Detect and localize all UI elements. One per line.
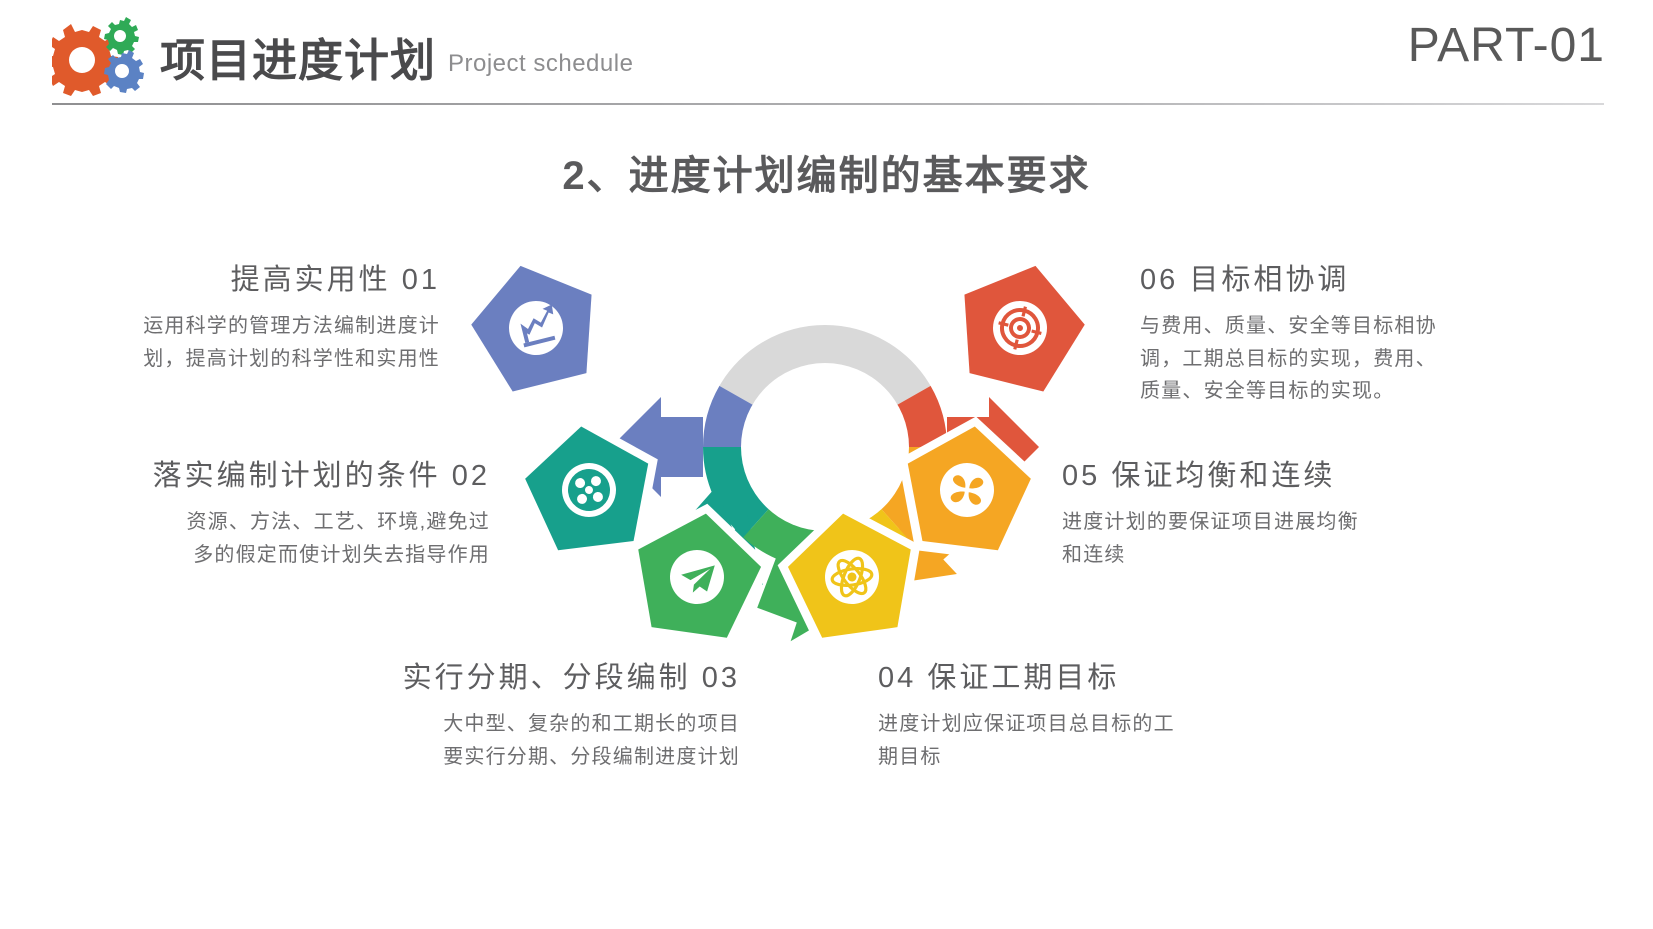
item-block-03: 实行分期、分段编制 03 大中型、复杂的和工期长的项目要实行分期、分段编制进度计… xyxy=(330,660,740,773)
header-title: 项目进度计划 xyxy=(160,24,436,89)
gears-icon xyxy=(52,16,148,96)
item-block-01: 提高实用性 01 运用科学的管理方法编制进度计划，提高计划的科学性和实用性 xyxy=(40,262,440,375)
item-desc-03: 大中型、复杂的和工期长的项目要实行分期、分段编制进度计划 xyxy=(330,708,740,773)
item-desc-04: 进度计划应保证项目总目标的工期目标 xyxy=(878,708,1298,773)
item-desc-02: 资源、方法、工艺、环境,避免过多的假定而使计划失去指导作用 xyxy=(70,506,490,571)
item-title-05: 05 保证均衡和连续 xyxy=(1062,458,1482,494)
item-desc-05: 进度计划的要保证项目进展均衡和连续 xyxy=(1062,506,1482,571)
item-title-06: 06 目标相协调 xyxy=(1140,262,1570,298)
item-desc-06: 与费用、质量、安全等目标相协调，工期总目标的实现，费用、质量、安全等目标的实现。 xyxy=(1140,310,1570,407)
item-title-03: 实行分期、分段编制 03 xyxy=(330,660,740,696)
item-title-02: 落实编制计划的条件 02 xyxy=(70,458,490,494)
page-title: 2、进度计划编制的基本要求 xyxy=(0,143,1653,201)
item-title-04: 04 保证工期目标 xyxy=(878,660,1298,696)
pentagon-badge-03[interactable] xyxy=(607,487,788,668)
item-block-02: 落实编制计划的条件 02 资源、方法、工艺、环境,避免过多的假定而使计划失去指导… xyxy=(70,458,490,571)
item-desc-01: 运用科学的管理方法编制进度计划，提高计划的科学性和实用性 xyxy=(40,310,440,375)
part-label: PART-01 xyxy=(1408,18,1605,73)
item-block-06: 06 目标相协调 与费用、质量、安全等目标相协调，工期总目标的实现，费用、质量、… xyxy=(1140,262,1570,407)
header-subtitle: Project schedule xyxy=(448,50,633,78)
item-block-04: 04 保证工期目标 进度计划应保证项目总目标的工期目标 xyxy=(878,660,1298,773)
header-divider xyxy=(52,103,1604,105)
slide-header: 项目进度计划 Project schedule PART-01 xyxy=(0,0,1653,112)
pentagon-badge-05[interactable] xyxy=(878,401,1056,579)
item-block-05: 05 保证均衡和连续 进度计划的要保证项目进展均衡和连续 xyxy=(1062,458,1482,571)
item-title-01: 提高实用性 01 xyxy=(40,262,440,298)
